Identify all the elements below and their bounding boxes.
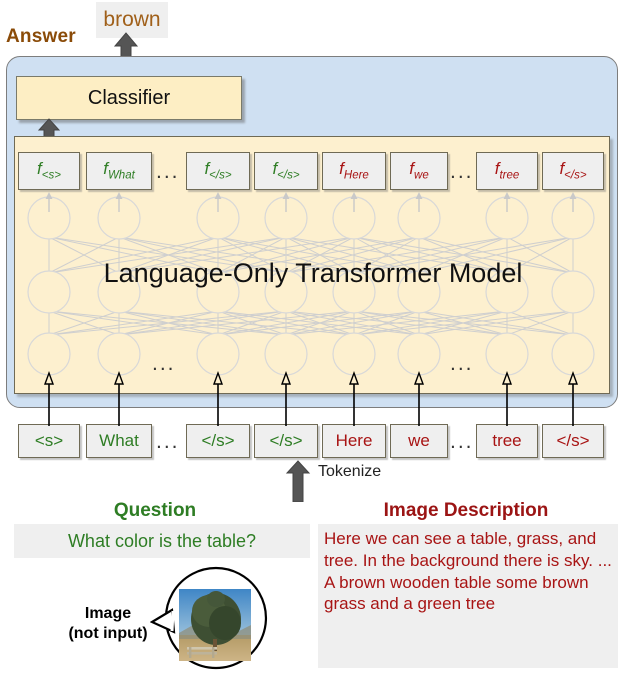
feature-token-box: f<s> xyxy=(18,152,80,190)
token-ellipsis: ... xyxy=(156,430,180,454)
description-text: Here we can see a table, grass, and tree… xyxy=(324,528,612,615)
neural-network-graphic xyxy=(14,196,610,382)
token-label: Here xyxy=(336,431,373,451)
feature-token-box: ftree xyxy=(476,152,538,190)
feature-token-label: ftree xyxy=(495,160,520,182)
feature-token-box: f</s> xyxy=(542,152,604,190)
feature-token-label: fwe xyxy=(409,160,428,182)
image-caption-line1: Image xyxy=(85,605,131,622)
feature-token-box: fWhat xyxy=(86,152,152,190)
token-label: </s> xyxy=(556,431,589,451)
feature-token-box: f</s> xyxy=(254,152,318,190)
token-to-network-arrows xyxy=(0,370,626,430)
feature-token-box: fwe xyxy=(390,152,448,190)
question-box: What color is the table? xyxy=(14,524,310,558)
description-heading: Image Description xyxy=(316,500,616,522)
feature-token-label: f</s> xyxy=(559,160,586,182)
answer-value-text: brown xyxy=(103,8,160,32)
feature-token-label: fWhat xyxy=(103,160,135,182)
network-to-feature-arrows xyxy=(0,192,626,214)
tokenize-label: Tokenize xyxy=(318,463,381,481)
image-caption-line2: (not input) xyxy=(68,625,147,642)
description-box: Here we can see a table, grass, and tree… xyxy=(318,524,618,668)
token-label: tree xyxy=(492,431,521,451)
feature-token-label: f</s> xyxy=(272,160,299,182)
question-heading: Question xyxy=(0,500,310,522)
feature-token-label: fHere xyxy=(339,160,369,182)
transformer-title: Language-Only Transformer Model xyxy=(0,258,626,289)
token-label: </s> xyxy=(201,431,234,451)
question-text: What color is the table? xyxy=(68,531,256,552)
tree-photo xyxy=(179,589,251,661)
token-label: <s> xyxy=(35,431,63,451)
classifier-box: Classifier xyxy=(16,76,242,120)
classifier-label: Classifier xyxy=(88,87,170,110)
token-label: What xyxy=(99,431,139,451)
feature-ellipsis: ... xyxy=(156,160,180,184)
feature-token-box: fHere xyxy=(322,152,386,190)
feature-token-label: f</s> xyxy=(204,160,231,182)
tokenize-arrow-icon xyxy=(285,460,311,502)
token-label: </s> xyxy=(269,431,302,451)
token-label: we xyxy=(408,431,430,451)
token-ellipsis: ... xyxy=(450,430,474,454)
feature-ellipsis: ... xyxy=(450,160,474,184)
feature-token-box: f</s> xyxy=(186,152,250,190)
answer-label: Answer xyxy=(6,26,76,48)
feature-token-label: f<s> xyxy=(37,160,61,182)
